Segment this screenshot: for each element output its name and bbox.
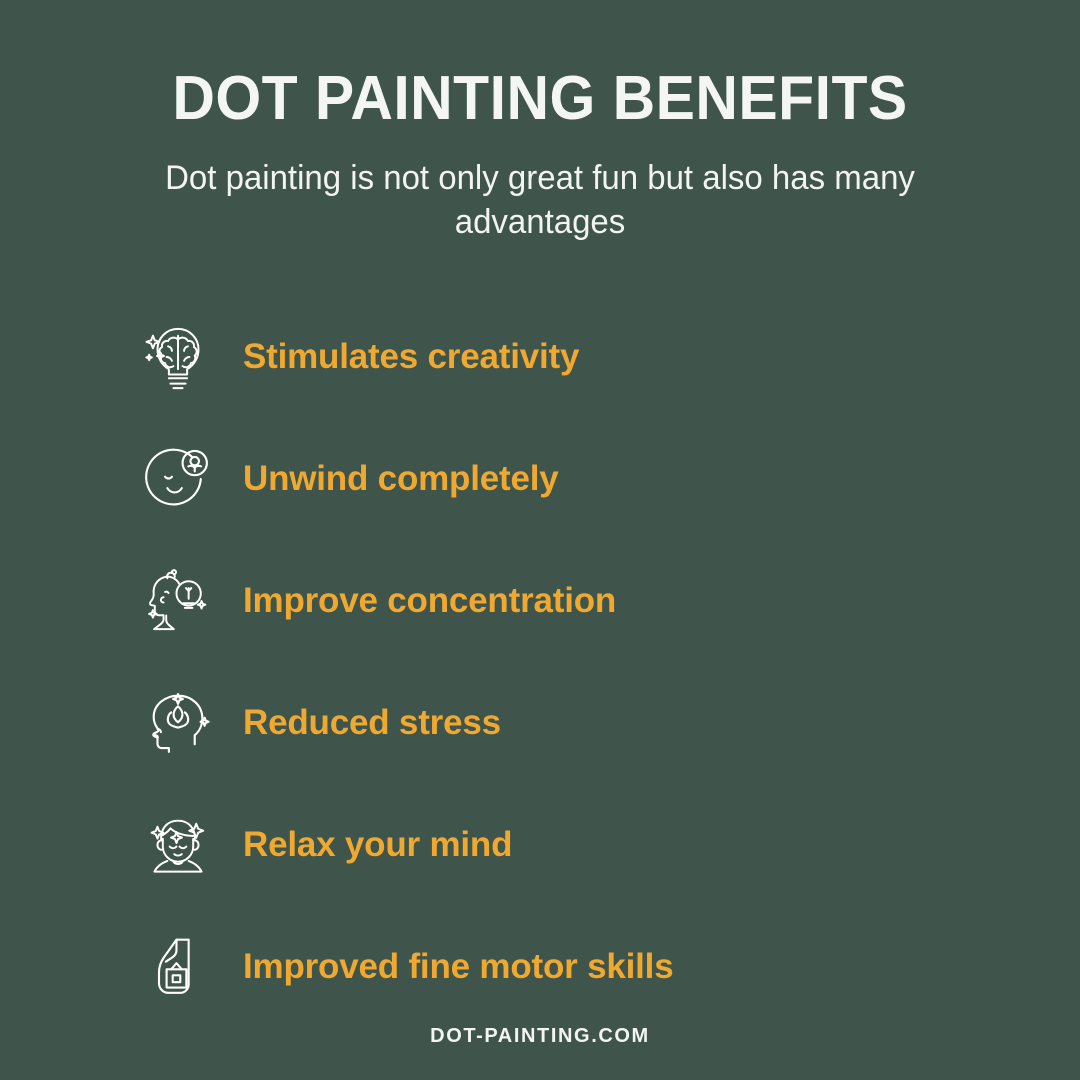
list-item-label: Relax your mind <box>243 825 512 865</box>
list-item: Relax your mind <box>138 784 1080 906</box>
list-item-label: Improved fine motor skills <box>243 947 673 987</box>
page-subtitle: Dot painting is not only great fun but a… <box>157 157 923 244</box>
smiling-face-flower-icon <box>138 439 218 519</box>
list-item-label: Unwind completely <box>243 459 559 499</box>
list-item: Improve concentration <box>138 540 1080 662</box>
hand-holding-block-icon <box>138 927 218 1007</box>
list-item-label: Reduced stress <box>243 703 501 743</box>
lightbulb-brain-icon <box>138 317 218 397</box>
list-item: Reduced stress <box>138 662 1080 784</box>
poster-canvas: DOT PAINTING BENEFITS Dot painting is no… <box>0 0 1080 1080</box>
list-item-label: Stimulates creativity <box>243 337 579 377</box>
website-label: DOT-PAINTING.COM <box>430 1025 650 1047</box>
list-item-label: Improve concentration <box>243 581 616 621</box>
page-title: DOT PAINTING BENEFITS <box>27 66 1053 131</box>
calm-face-stars-icon <box>138 805 218 885</box>
head-lotus-icon <box>138 683 218 763</box>
head-profile-lightbulb-icon <box>138 561 218 641</box>
list-item: Unwind completely <box>138 418 1080 540</box>
header: DOT PAINTING BENEFITS Dot painting is no… <box>0 0 1080 244</box>
benefits-list: Stimulates creativity Unwind completely <box>0 296 1080 1028</box>
footer: DOT-PAINTING.COM <box>0 1025 1080 1048</box>
list-item: Stimulates creativity <box>138 296 1080 418</box>
list-item: Improved fine motor skills <box>138 906 1080 1028</box>
